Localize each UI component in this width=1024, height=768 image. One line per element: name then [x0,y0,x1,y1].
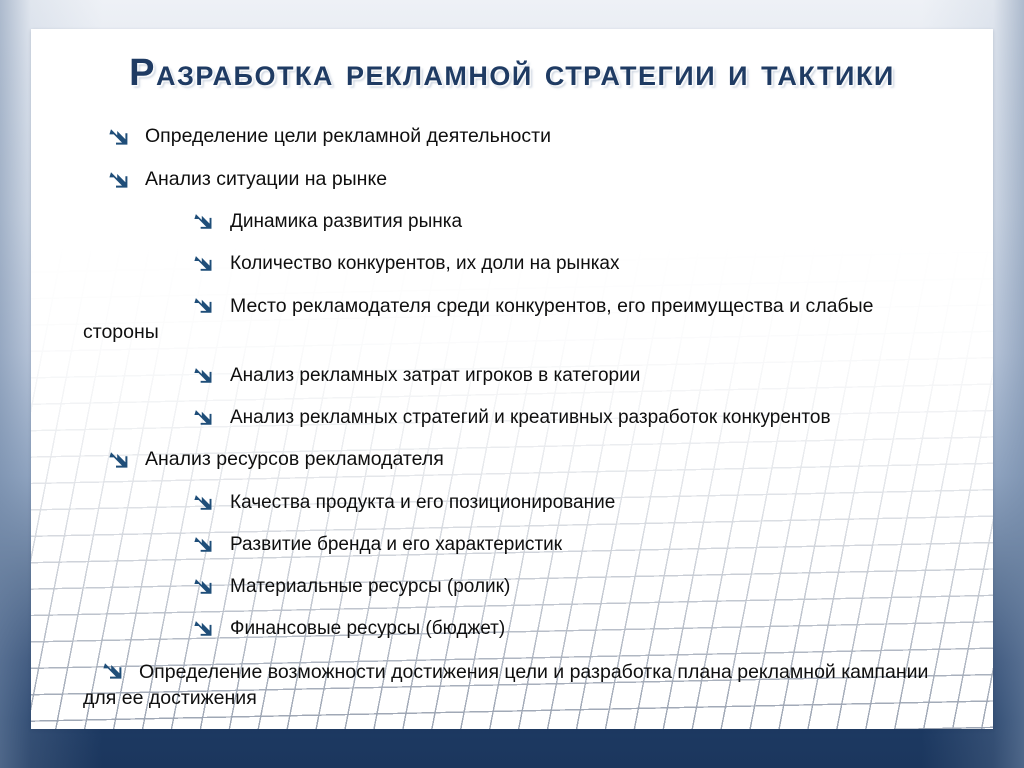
list-item-label: Количество конкурентов, их доли на рынка… [230,251,937,276]
arrow-down-right-icon [194,408,216,427]
slide-title: Разработка рекламной стратегии и тактики [31,29,993,96]
list-item[interactable]: Развитие бренда и его характеристик [83,532,937,557]
list-item-label: Анализ ресурсов рекламодателя [145,447,937,473]
list-item-label: Анализ рекламных затрат игроков в катего… [230,363,937,388]
arrow-down-right-icon [194,619,216,638]
list-item-label: Финансовые ресурсы (бюджет) [230,616,937,641]
list-item[interactable]: Анализ рекламных затрат игроков в катего… [83,363,937,388]
arrow-down-right-icon [194,493,216,512]
list-item[interactable]: Качества продукта и его позиционирование [83,490,937,515]
arrow-down-right-icon [194,577,216,596]
list-item-label: Развитие бренда и его характеристик [230,532,937,557]
arrow-down-right-icon [194,366,216,385]
list-item-label: Определение возможности достижения цели … [83,661,928,709]
list-item-label: Определение цели рекламной деятельности [145,124,937,150]
list-item[interactable]: Анализ ситуации на рынке [83,167,937,193]
list-item-label: Материальные ресурсы (ролик) [230,574,937,599]
arrow-down-right-icon [103,661,125,681]
arrow-down-right-icon [194,254,216,273]
arrow-down-right-icon [109,127,131,147]
slide: Разработка рекламной стратегии и тактики… [0,0,1024,768]
slide-content-panel: Разработка рекламной стратегии и тактики… [31,29,993,729]
arrow-down-right-icon [109,450,131,470]
arrow-down-right-icon [194,296,216,315]
list-item[interactable]: Финансовые ресурсы (бюджет) [83,616,937,641]
arrow-down-right-icon [109,170,131,190]
outline-list: Определение цели рекламной деятельности … [31,96,993,712]
list-item[interactable]: Анализ ресурсов рекламодателя [83,447,937,473]
list-item-label: Анализ рекламных стратегий и креативных … [230,405,937,430]
list-item-label: Анализ ситуации на рынке [145,167,937,193]
list-item[interactable]: Определение возможности достижения цели … [83,658,937,711]
arrow-down-right-icon [194,212,216,231]
list-item[interactable]: Материальные ресурсы (ролик) [83,574,937,599]
list-item[interactable]: Определение цели рекламной деятельности [83,124,937,150]
list-item[interactable]: Место рекламодателя среди конкурентов, е… [83,293,937,345]
list-item-label: Динамика развития рынка [230,209,937,234]
list-item[interactable]: Анализ рекламных стратегий и креативных … [83,405,937,430]
list-item-label: Качества продукта и его позиционирование [230,490,937,515]
list-item[interactable]: Количество конкурентов, их доли на рынка… [83,251,937,276]
arrow-down-right-icon [194,535,216,554]
slide-content: Разработка рекламной стратегии и тактики… [31,29,993,712]
list-item[interactable]: Динамика развития рынка [83,209,937,234]
